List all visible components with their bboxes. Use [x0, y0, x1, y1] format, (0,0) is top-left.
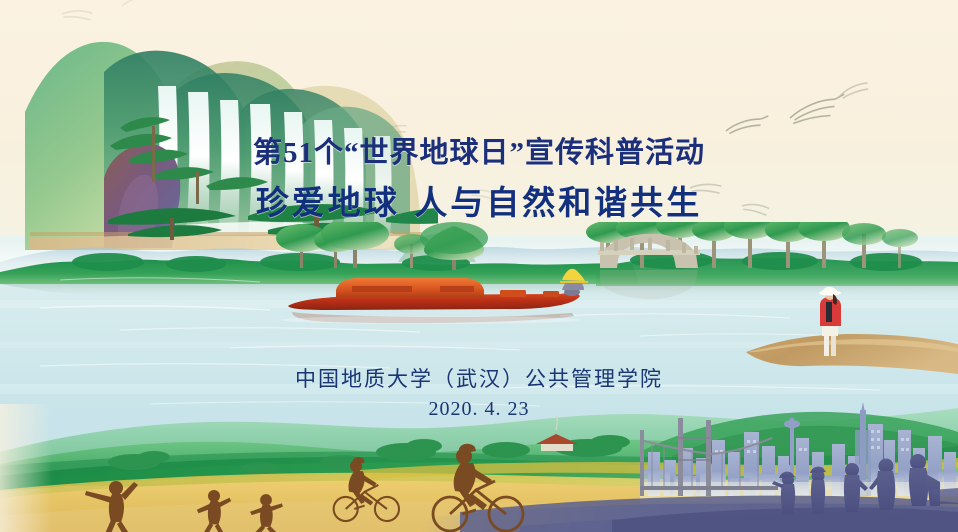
earth-day-poster: 第51个“世界地球日”宣传科普活动 珍爱地球 人与自然和谐共生 中国地质大学（武…: [0, 0, 958, 532]
running-children: [85, 481, 283, 532]
foreground-figures: [0, 0, 958, 532]
